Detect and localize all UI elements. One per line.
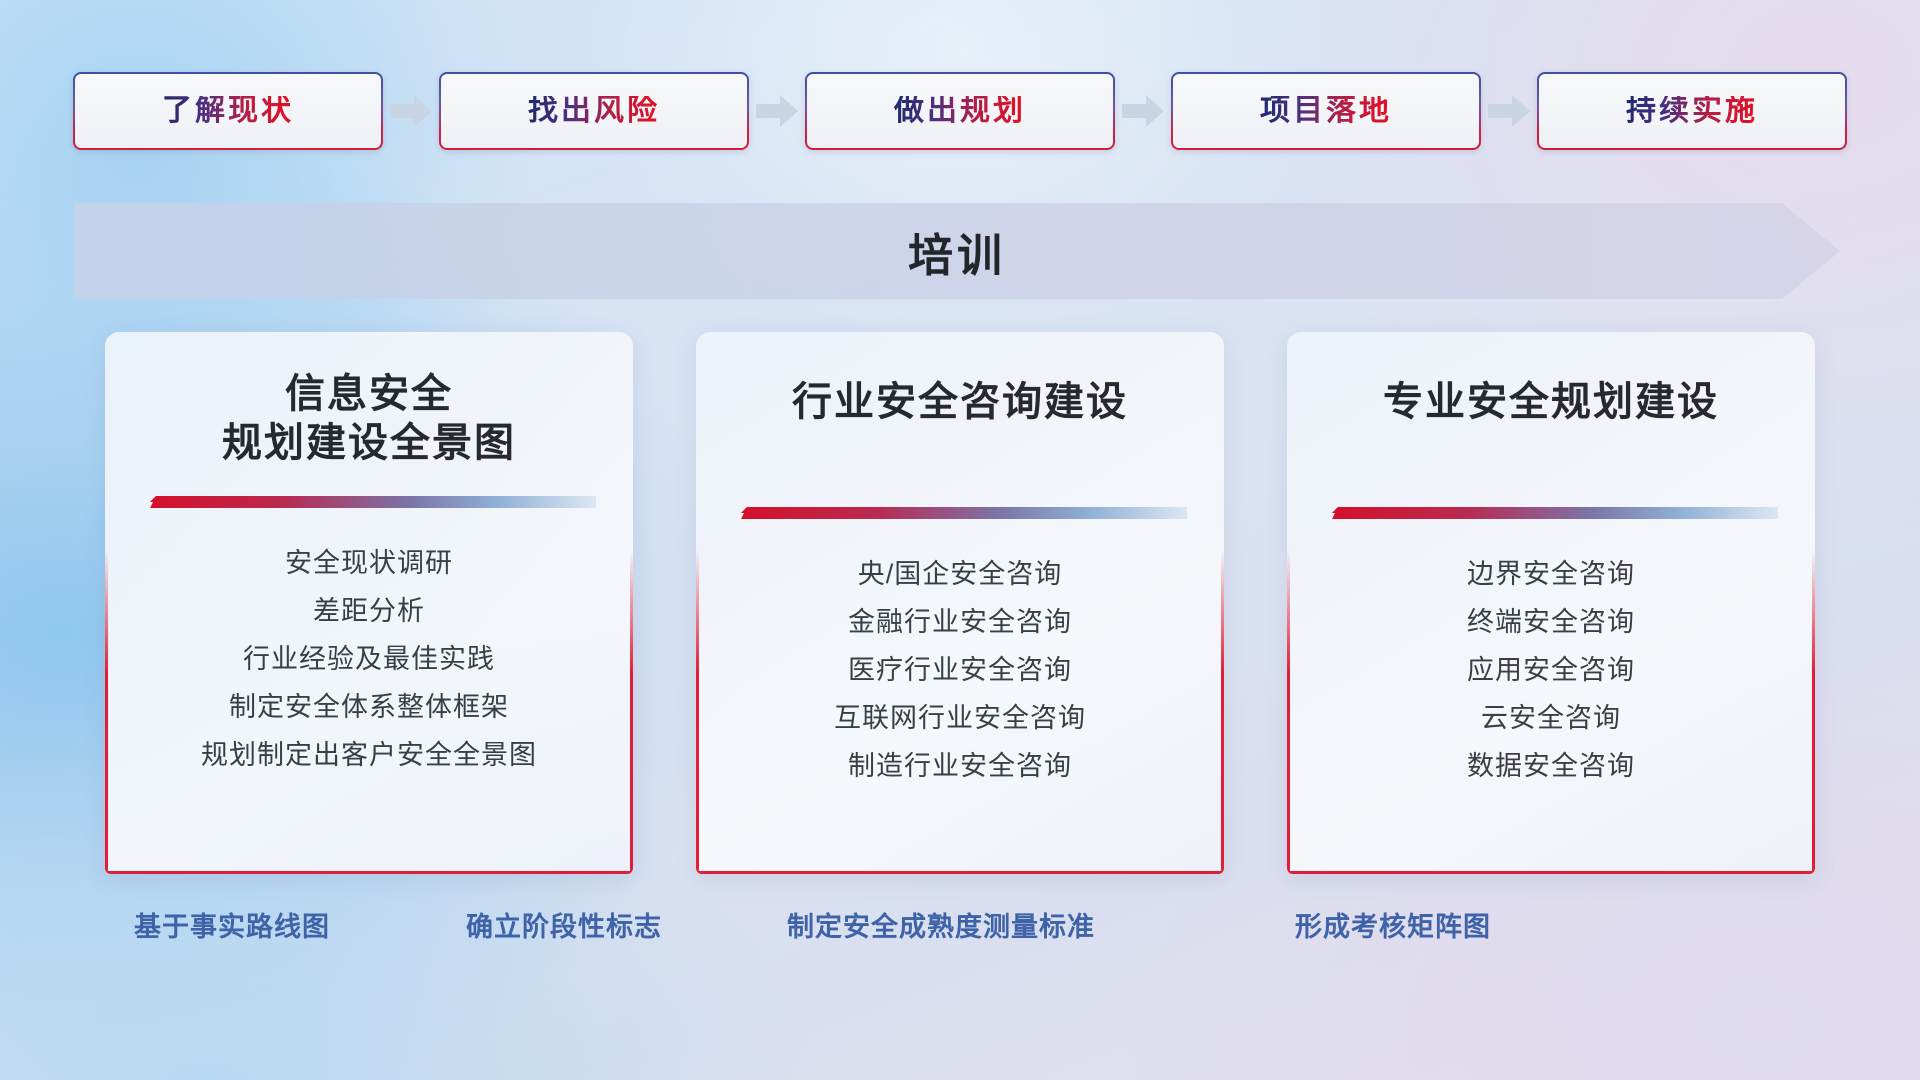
card-divider-3 xyxy=(1324,505,1778,527)
list-item: 金融行业安全咨询 xyxy=(848,601,1072,643)
step-label-3: 做出规划 xyxy=(894,96,1026,126)
list-item: 云安全咨询 xyxy=(1481,697,1621,739)
card-title-3: 专业安全规划建设 xyxy=(1383,378,1719,427)
list-item: 央/国企安全咨询 xyxy=(858,553,1063,595)
card-title-2: 行业安全咨询建设 xyxy=(792,378,1128,427)
arrow-right-icon-3 xyxy=(1115,72,1171,150)
footer-note-4: 形成考核矩阵图 xyxy=(1295,905,1491,944)
list-item: 医疗行业安全咨询 xyxy=(848,649,1072,691)
list-item: 差距分析 xyxy=(313,590,425,632)
arrow-right-icon-4 xyxy=(1481,72,1537,150)
card-divider-2 xyxy=(733,505,1187,527)
card-title-line-1b: 规划建设全景图 xyxy=(222,419,516,468)
footer-note-3: 制定安全成熟度测量标准 xyxy=(787,905,1095,944)
list-item: 制造行业安全咨询 xyxy=(848,745,1072,787)
list-item: 边界安全咨询 xyxy=(1467,553,1635,595)
card-group: 信息安全 规划建设全景图 安全现状调研 差距分析 xyxy=(0,332,1920,874)
card-list-1: 安全现状调研 差距分析 行业经验及最佳实践 制定安全体系整体框架 规划制定出客户… xyxy=(201,542,537,777)
card-title-line-3a: 专业安全规划建设 xyxy=(1383,378,1719,427)
training-banner: 培训 xyxy=(74,203,1840,299)
step-box-inner-4: 项目落地 xyxy=(1173,74,1479,148)
footer-note-2: 确立阶段性标志 xyxy=(466,905,662,944)
card-title-1: 信息安全 规划建设全景图 xyxy=(222,370,516,468)
step-box-3[interactable]: 做出规划 xyxy=(805,72,1115,150)
card-divider-1 xyxy=(142,494,596,516)
card-list-2: 央/国企安全咨询 金融行业安全咨询 医疗行业安全咨询 互联网行业安全咨询 制造行… xyxy=(834,553,1086,788)
step-box-2[interactable]: 找出风险 xyxy=(439,72,749,150)
list-item: 行业经验及最佳实践 xyxy=(243,638,495,680)
card-3[interactable]: 专业安全规划建设 边界安全咨询 终端安全咨询 应用 xyxy=(1287,332,1815,874)
card-bottom-accent-1 xyxy=(105,871,633,874)
arrow-right-icon-2 xyxy=(749,72,805,150)
banner-label: 培训 xyxy=(74,203,1840,299)
step-label-4: 项目落地 xyxy=(1260,96,1392,126)
list-item: 互联网行业安全咨询 xyxy=(834,697,1086,739)
list-item: 数据安全咨询 xyxy=(1467,745,1635,787)
step-box-inner-3: 做出规划 xyxy=(807,74,1113,148)
step-box-inner-1: 了解现状 xyxy=(75,74,381,148)
list-item: 制定安全体系整体框架 xyxy=(229,686,509,728)
list-item: 应用安全咨询 xyxy=(1467,649,1635,691)
list-item: 安全现状调研 xyxy=(285,542,453,584)
card-1[interactable]: 信息安全 规划建设全景图 安全现状调研 差距分析 xyxy=(105,332,633,874)
step-box-5[interactable]: 持续实施 xyxy=(1537,72,1847,150)
step-label-2: 找出风险 xyxy=(528,96,660,126)
arrow-right-icon-1 xyxy=(383,72,439,150)
step-box-1[interactable]: 了解现状 xyxy=(73,72,383,150)
card-bottom-accent-3 xyxy=(1287,871,1815,874)
card-title-line-1a: 信息安全 xyxy=(222,370,516,419)
step-box-inner-2: 找出风险 xyxy=(441,74,747,148)
process-steps: 了解现状 找出风险 做出规划 项目落地 持续实施 xyxy=(0,72,1920,150)
step-label-1: 了解现状 xyxy=(162,96,294,126)
card-2[interactable]: 行业安全咨询建设 央/国企安全咨询 金融行业安全咨询 xyxy=(696,332,1224,874)
list-item: 规划制定出客户安全全景图 xyxy=(201,734,537,776)
step-label-5: 持续实施 xyxy=(1626,96,1758,126)
card-title-line-2a: 行业安全咨询建设 xyxy=(792,378,1128,427)
footer-notes: 基于事实路线图 确立阶段性标志 制定安全成熟度测量标准 形成考核矩阵图 xyxy=(0,905,1920,965)
step-box-inner-5: 持续实施 xyxy=(1539,74,1845,148)
step-box-4[interactable]: 项目落地 xyxy=(1171,72,1481,150)
card-bottom-accent-2 xyxy=(696,871,1224,874)
card-list-3: 边界安全咨询 终端安全咨询 应用安全咨询 云安全咨询 数据安全咨询 xyxy=(1467,553,1635,788)
footer-note-1: 基于事实路线图 xyxy=(134,905,330,944)
list-item: 终端安全咨询 xyxy=(1467,601,1635,643)
